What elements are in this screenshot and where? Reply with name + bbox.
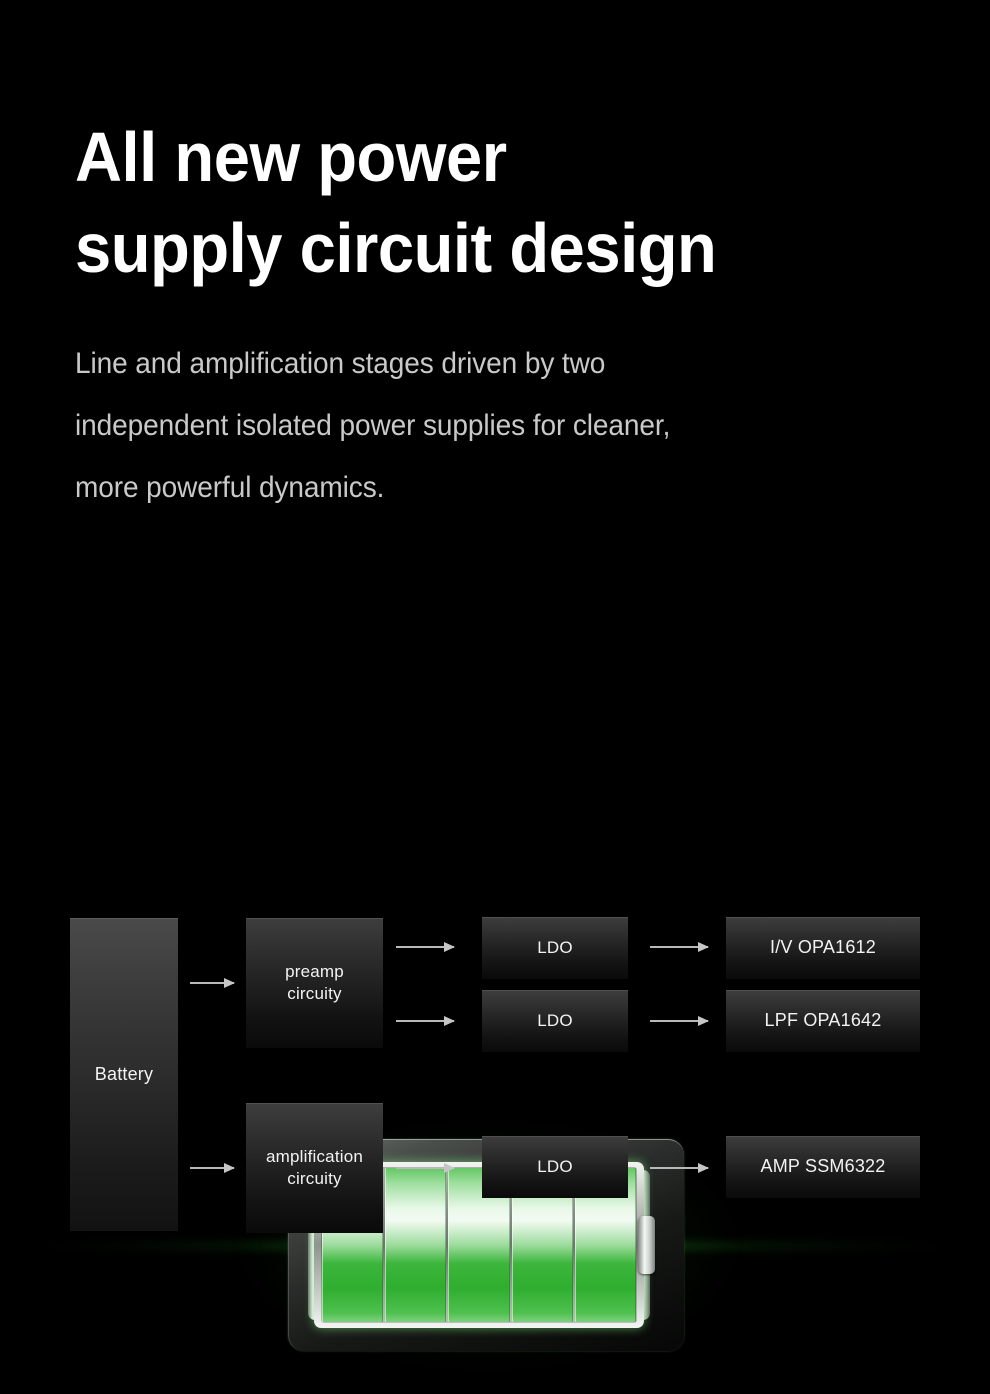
diagram-box-ldo-1: LDO bbox=[482, 917, 628, 979]
diagram-arrow-battery-to-preamp bbox=[190, 982, 234, 984]
diagram-arrow-ldo-3-to-amp bbox=[650, 1167, 708, 1169]
power-supply-block-diagram: Battery preamp circuity LDO LDO I/V OPA1… bbox=[0, 0, 990, 1394]
diagram-box-preamp: preamp circuity bbox=[246, 918, 383, 1048]
diagram-box-amplification: amplification circuity bbox=[246, 1103, 383, 1233]
diagram-arrow-preamp-to-ldo-2 bbox=[396, 1020, 454, 1022]
page-root: All new power supply circuit design Line… bbox=[0, 0, 990, 1394]
diagram-box-ldo-3: LDO bbox=[482, 1136, 628, 1198]
diagram-arrow-preamp-to-ldo-1 bbox=[396, 946, 454, 948]
diagram-box-iv-opa1612: I/V OPA1612 bbox=[726, 917, 920, 979]
diagram-box-battery: Battery bbox=[70, 918, 178, 1231]
diagram-arrow-ldo-2-to-lpf bbox=[650, 1020, 708, 1022]
diagram-arrow-ldo-1-to-iv bbox=[650, 946, 708, 948]
diagram-box-ldo-2: LDO bbox=[482, 990, 628, 1052]
diagram-box-amp-ssm6322: AMP SSM6322 bbox=[726, 1136, 920, 1198]
diagram-arrow-battery-to-amplification bbox=[190, 1167, 234, 1169]
diagram-box-lpf-opa1642: LPF OPA1642 bbox=[726, 990, 920, 1052]
diagram-arrow-amplification-to-ldo-3 bbox=[396, 1167, 454, 1169]
